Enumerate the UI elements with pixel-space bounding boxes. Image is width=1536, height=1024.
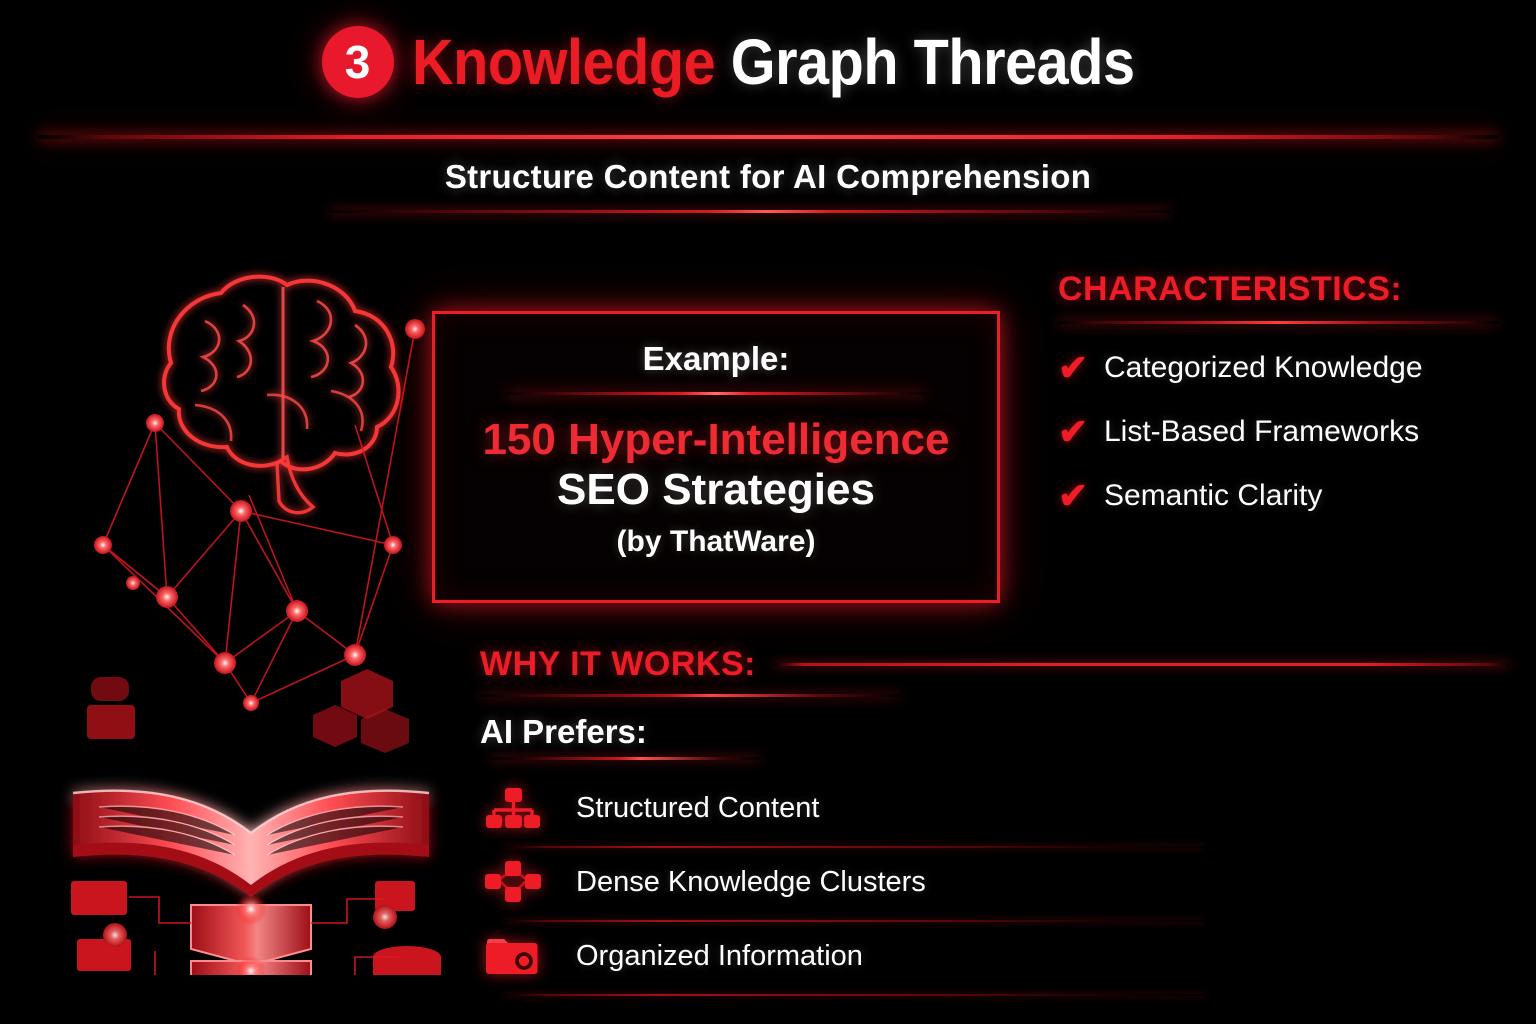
ai-prefers-underline: [490, 757, 760, 760]
ai-prefers-label-item: Structured Content: [576, 792, 819, 825]
characteristics-list: ✔ Categorized Knowledge ✔ List-Based Fra…: [1058, 350, 1518, 514]
list-item: Organized Information: [480, 922, 1510, 996]
node-cluster-icon: [480, 859, 546, 905]
stack-layer-1: [191, 893, 311, 965]
knowledge-graph-illustration: [55, 245, 450, 975]
characteristic-label: Semantic Clarity: [1104, 479, 1322, 513]
header: 3 Knowledge Graph Threads: [0, 0, 1536, 98]
example-label: Example:: [643, 340, 790, 378]
list-item: ✔ Categorized Knowledge: [1058, 350, 1518, 386]
why-it-works-heading: WHY IT WORKS:: [480, 645, 756, 684]
check-icon: ✔: [1058, 350, 1088, 386]
check-icon: ✔: [1058, 414, 1088, 450]
stack-layer-2: [191, 956, 311, 975]
data-stack-icon: [191, 893, 311, 975]
characteristics-divider: [1058, 321, 1498, 324]
example-title-white: SEO Strategies: [557, 467, 875, 513]
characteristics-section: CHARACTERISTICS: ✔ Categorized Knowledge…: [1058, 270, 1518, 542]
characteristics-heading: CHARACTERISTICS:: [1058, 270, 1518, 309]
why-it-works-section: WHY IT WORKS: AI Prefers:: [480, 645, 1510, 996]
title-text: Knowledge Graph Threads: [412, 30, 1135, 94]
page-title: 3 Knowledge Graph Threads: [0, 0, 1536, 98]
title-divider: [38, 135, 1498, 139]
number-badge-label: 3: [345, 35, 371, 89]
brain-icon: [164, 277, 399, 513]
subtitle: Structure Content for AI Comprehension: [0, 158, 1536, 196]
example-divider: [506, 392, 926, 395]
list-item: Structured Content: [480, 774, 1510, 848]
infographic-canvas: 3 Knowledge Graph Threads Structure Cont…: [0, 0, 1536, 1024]
ai-prefers-label-item: Organized Information: [576, 940, 863, 973]
subtitle-divider: [330, 210, 1170, 213]
number-badge: 3: [322, 26, 394, 98]
ai-prefers-label: AI Prefers:: [480, 713, 1510, 751]
example-title-red: 150 Hyper-Intelligence: [482, 417, 949, 463]
network-nodes: [103, 329, 415, 703]
example-box: Example: 150 Hyper-Intelligence SEO Stra…: [432, 311, 1000, 603]
why-heading-underline: [480, 694, 900, 697]
row-separator: [504, 994, 1204, 996]
characteristic-label: Categorized Knowledge: [1104, 351, 1423, 385]
why-heading-row: WHY IT WORKS:: [480, 645, 1510, 684]
list-item: Dense Knowledge Clusters: [480, 848, 1510, 922]
list-item: ✔ List-Based Frameworks: [1058, 414, 1518, 450]
open-book-icon: [73, 791, 429, 897]
why-heading-rule: [774, 663, 1510, 666]
list-item: ✔ Semantic Clarity: [1058, 478, 1518, 514]
check-icon: ✔: [1058, 478, 1088, 514]
title-white-part: Graph Threads: [730, 26, 1134, 98]
ai-prefers-label-item: Dense Knowledge Clusters: [576, 866, 926, 899]
hierarchy-icon: [480, 785, 546, 831]
ai-prefers-list: Structured Content Dense: [480, 774, 1510, 996]
example-attribution: (by ThatWare): [617, 525, 816, 559]
floating-shapes: [87, 669, 409, 753]
title-red-part: Knowledge: [412, 26, 715, 98]
characteristic-label: List-Based Frameworks: [1104, 415, 1419, 449]
folder-icon: [480, 933, 546, 979]
